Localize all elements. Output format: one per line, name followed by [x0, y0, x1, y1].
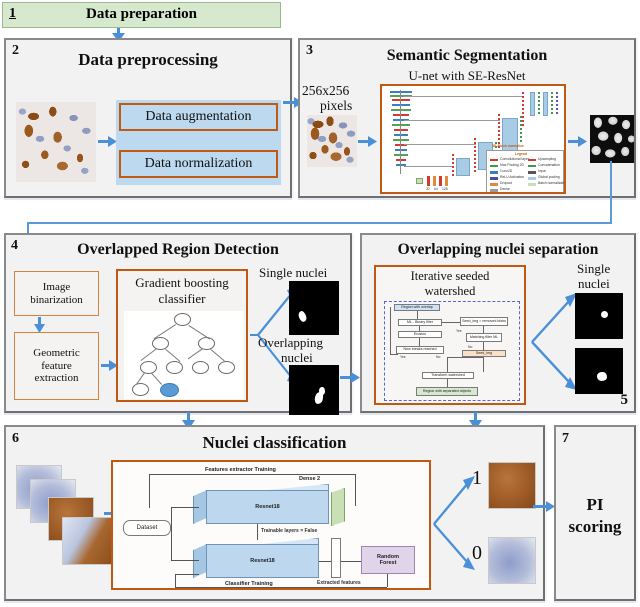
step5-flow-node-1: Erosion: [398, 331, 442, 338]
step3-legend-item-7: Global pooling: [538, 175, 560, 179]
step5-output-mask-single-a: [575, 293, 623, 339]
step5-flow-node-2: New breaks reached: [396, 346, 444, 354]
step4-classifier-title-line1: Gradient boosting: [118, 275, 246, 291]
step6-panel: 6 Nuclei classification Features extract…: [4, 425, 545, 601]
step6-backbone-top-label: Resnet18: [255, 504, 279, 510]
step6-output-patch-positive: [488, 462, 536, 509]
step1-data-preparation-banner: 1 Data preparation: [2, 2, 281, 28]
step3-legend-item-5: Input: [538, 169, 546, 173]
step5-title: Overlapping nuclei separation: [362, 241, 634, 259]
tree-node-selected: [160, 383, 179, 397]
step4-panel: 4 Overlapped Region Detection Image bina…: [4, 233, 352, 413]
step5-branch-yes-2: Yes: [456, 329, 462, 333]
step5-flow-node-6: Transform watershed: [422, 372, 474, 379]
step5-flow-node-4-label: Matching filter ML: [470, 336, 498, 340]
step4-classifier-title-line2: classifier: [118, 291, 246, 307]
nucleus-blob: [597, 372, 607, 381]
step2-block-data-augmentation[interactable]: Data augmentation: [119, 103, 278, 131]
step4-output-label-single: Single nuclei: [259, 265, 327, 281]
step7-panel: 7 PI scoring: [554, 425, 636, 601]
tree-node: [192, 361, 209, 374]
step5-flow-node-3-label: Seed_img = removed blobs: [462, 320, 506, 324]
step5-output-mask-single-b: [575, 348, 623, 394]
step5-iterative-seeded-watershed: Iterative seeded watershed Region with o…: [374, 265, 526, 405]
step5-flow-node-0-label: ML - Binary filter: [407, 321, 433, 325]
step5-flow-node-6-label: Transform watershed: [431, 374, 465, 378]
patch-mixed-1: [62, 517, 112, 565]
step7-title-line2: scoring: [556, 517, 634, 537]
step2-block-label-1: Data normalization: [145, 156, 253, 172]
step1-label: Data preparation: [3, 6, 280, 23]
step3-legend-item-1: Upsampling: [538, 157, 556, 161]
step3-legend: Legend Convolutional layer Upsampling Ma…: [486, 150, 564, 194]
step6-schematic-top-label: Features extractor Training: [205, 467, 276, 473]
step6-resnet-bottom-face: Resnet18: [206, 544, 319, 578]
step4-output-mask-overlap: [289, 365, 339, 415]
step7-number: 7: [562, 431, 569, 447]
step5-output-label-line1: Single: [577, 261, 610, 277]
step5-number: 5: [621, 392, 629, 409]
step2-input-image: [16, 102, 96, 182]
step3-tick-128: 128: [442, 187, 448, 191]
step5-branch-no-2: No: [468, 345, 472, 349]
step3-legend-item-9: Batch normalization: [538, 181, 566, 185]
step3-panel: 3 Semantic Segmentation U-net with SE-Re…: [298, 38, 636, 198]
step5-panel: Overlapping nuclei separation 5 Iterativ…: [360, 233, 636, 413]
step2-block-label-0: Data augmentation: [145, 109, 251, 125]
step3-legend-item-3: Concatenation: [538, 163, 560, 167]
step4-output-mask-single: [289, 281, 339, 335]
step3-legend-item-8: Dropout: [500, 181, 512, 185]
step6-frozen-label: Trainable layers = False: [261, 528, 317, 534]
nucleus-blob: [297, 310, 307, 323]
step5-output-label-line2: nuclei: [578, 276, 610, 292]
step5-flow-start: Region with overlap: [394, 304, 440, 311]
step5-branch-no: No: [436, 355, 440, 359]
step5-flow-node-5: Seed_img: [462, 350, 506, 357]
step3-legend-item-2: Max Pooling 2D: [500, 163, 524, 167]
step4-output-label-overlap-2: nuclei: [281, 350, 313, 366]
step4-title: Overlapped Region Detection: [6, 241, 350, 259]
step4-block-1-line3: extraction: [35, 372, 79, 385]
step6-input-patch-stack: [16, 465, 121, 575]
step3-tick-32: 32: [426, 187, 430, 191]
step3-subtitle: U-net with SE-ResNet: [300, 68, 634, 84]
step3-unet-schematic: 32 64 128 Legend Convolutional layer Ups…: [380, 84, 566, 194]
step6-output-label-0: 0: [472, 542, 482, 565]
step2-panel: 2 Data preprocessing Data augmentation D…: [4, 38, 292, 198]
tree-node-leaf: [132, 383, 149, 396]
step4-block-0-line1: Image: [43, 281, 70, 294]
step3-output-mask: [590, 115, 634, 163]
step3-se-block-title: SE-Block normalize: [492, 144, 524, 148]
step3-legend-item-10: Dense: [500, 187, 510, 191]
step4-block-image-binarization[interactable]: Image binarization: [14, 271, 99, 316]
step7-title-line1: PI: [556, 495, 634, 515]
step3-input-image: [307, 115, 357, 167]
tree-node: [166, 361, 183, 374]
nucleus-blob: [601, 311, 608, 318]
step2-block-data-normalization[interactable]: Data normalization: [119, 150, 278, 178]
nucleus-blob: [319, 387, 325, 395]
step6-classification-schematic: Features extractor Training Resnet18 Den…: [111, 460, 431, 590]
step3-legend-title: Legend: [515, 152, 527, 156]
step6-features-label: Extracted features: [317, 580, 361, 586]
step6-random-forest-box[interactable]: Random Forest: [361, 546, 415, 574]
connector-step3-step4-horiz: [27, 222, 612, 224]
step3-input-size-line2: pixels: [320, 98, 352, 114]
tree-node: [218, 361, 235, 374]
tree-node: [140, 361, 157, 374]
step3-tick-64: 64: [434, 187, 438, 191]
step5-flow-node-5-label: Seed_img: [476, 352, 492, 356]
step4-block-0-line2: binarization: [30, 294, 83, 307]
step4-gradient-boosting-classifier: Gradient boosting classifier: [116, 269, 248, 402]
arrowhead-step3-unet: [368, 136, 377, 147]
step6-dense-label: Dense 2: [299, 476, 320, 482]
step6-output-patch-negative: [488, 537, 536, 584]
step4-block-geometric-feature-extraction[interactable]: Geometric feature extraction: [14, 332, 99, 400]
step6-dataset-label: Dataset: [137, 525, 158, 531]
step3-legend-item-4: Conv2D: [500, 169, 512, 173]
step5-branch-yes: Yes: [400, 355, 406, 359]
step6-feature-vector: [331, 538, 341, 578]
step6-resnet-top-face: Resnet18: [206, 490, 329, 524]
arrowhead-step3-output: [578, 136, 587, 147]
step5-flow-node-4: Matching filter ML: [466, 333, 502, 342]
step4-decision-tree: [124, 311, 244, 399]
step3-input-size-line1: 256x256: [302, 83, 349, 99]
arrowhead-step4-step5: [351, 372, 360, 383]
step3-title: Semantic Segmentation: [300, 47, 634, 65]
step6-dense-slab: [331, 488, 345, 526]
step6-classifier-line2: Forest: [380, 560, 397, 566]
step6-title: Nuclei classification: [6, 433, 543, 453]
step5-flow-node-0: ML - Binary filter: [398, 319, 442, 326]
step5-method-title-line2: watershed: [376, 284, 524, 299]
step4-output-label-overlap-1: Overlapping: [258, 335, 323, 351]
step5-method-title-line1: Iterative seeded: [376, 269, 524, 284]
step4-block-1-line2: feature: [41, 360, 72, 373]
pipeline-diagram: 1 Data preparation 2 Data preprocessing …: [0, 0, 640, 607]
step5-flow-node-7-label: Region with separated objects: [423, 390, 471, 394]
step5-flow-node-1-label: Erosion: [414, 333, 426, 337]
step2-title: Data preprocessing: [6, 50, 290, 70]
step3-legend-item-0: Convolutional layer: [500, 157, 529, 161]
connector-step3-step4-vert1: [610, 161, 612, 223]
step5-flow-node-3: Seed_img = removed blobs: [460, 317, 508, 326]
step6-dataset-box: Dataset: [123, 520, 171, 536]
step6-output-label-1: 1: [472, 467, 482, 490]
step3-legend-item-6: ReLU Activation: [500, 175, 524, 179]
step4-block-1-line1: Geometric: [33, 347, 79, 360]
step6-resnet-bottom-side: [193, 544, 207, 578]
step6-backbone-bottom-label: Resnet18: [250, 558, 274, 564]
step5-flow-start-label: Region with overlap: [401, 306, 433, 310]
step5-flow-node-2-label: New breaks reached: [404, 348, 437, 352]
step5-flow-node-7: Region with separated objects: [416, 387, 478, 396]
